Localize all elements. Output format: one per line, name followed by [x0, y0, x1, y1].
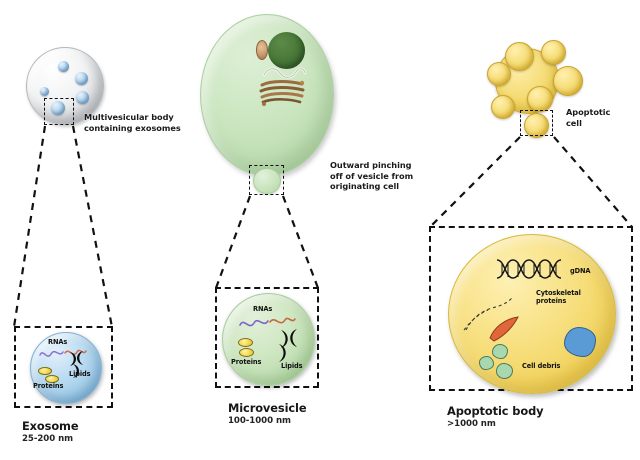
- exosome-caption-size: 25-200 nm: [22, 434, 73, 444]
- cytoskeletal-protein-shape: [488, 316, 522, 342]
- intraluminal-vesicle: [40, 87, 49, 96]
- intraluminal-vesicle: [75, 72, 88, 85]
- cell-debris-label: Cell debris: [522, 363, 560, 371]
- gdna-label: gDNA: [570, 268, 590, 276]
- cell-debris-green: [479, 356, 494, 370]
- microvesicle-caption-size: 100-1000 nm: [228, 416, 291, 426]
- cell-debris-green: [496, 363, 513, 379]
- exosome-caption-title: Exosome: [22, 419, 78, 433]
- microvesicle-rnas-label: RNAs: [253, 306, 272, 314]
- microvesicle-caption-title: Microvesicle: [228, 401, 306, 415]
- nucleus: [268, 32, 305, 69]
- golgi-apparatus-icon: [258, 80, 308, 108]
- cytoskeletal-proteins-label: Cytoskeletal proteins: [536, 290, 581, 306]
- exosome-rnas-label: RNAs: [48, 339, 67, 347]
- microvesicle-callout-box: [249, 165, 284, 195]
- intraluminal-vesicle: [76, 91, 89, 104]
- exosome-callout-box: [44, 98, 74, 125]
- apoptotic-cell-annotation: Apoptotic cell: [566, 107, 610, 128]
- dna-helix-icon: [495, 256, 567, 282]
- protein-oval-icon: [239, 348, 254, 357]
- extracellular-vesicle-diagram: Multivesicular body containing exosomes …: [0, 0, 640, 460]
- apoptotic-callout-box: [520, 110, 553, 136]
- exosome-proteins-label: Proteins: [33, 383, 63, 391]
- membrane-bleb: [491, 95, 515, 119]
- protein-oval-icon: [38, 367, 52, 375]
- lipid-crescent-icon: [277, 328, 309, 360]
- mitochondrion: [256, 40, 268, 60]
- apoptotic-body-caption-title: Apoptotic body: [447, 404, 543, 418]
- cell-debris-blue: [564, 327, 596, 357]
- membrane-bleb: [541, 40, 566, 65]
- outward-pinching-annotation: Outward pinching off of vesicle from ori…: [330, 160, 413, 192]
- membrane-bleb: [487, 62, 511, 86]
- microvesicle-proteins-label: Proteins: [231, 359, 261, 367]
- intraluminal-vesicle: [58, 61, 69, 72]
- membrane-bleb: [527, 86, 553, 112]
- multivesicular-body-annotation: Multivesicular body containing exosomes: [84, 112, 181, 133]
- membrane-bleb: [553, 66, 583, 96]
- exosome-lipids-label: Lipids: [69, 371, 91, 379]
- cell-debris-green: [492, 344, 508, 359]
- apoptotic-body-caption-size: >1000 nm: [447, 419, 496, 429]
- microvesicle-lipids-label: Lipids: [281, 363, 303, 371]
- membrane-bleb: [505, 42, 534, 71]
- protein-oval-icon: [238, 338, 253, 347]
